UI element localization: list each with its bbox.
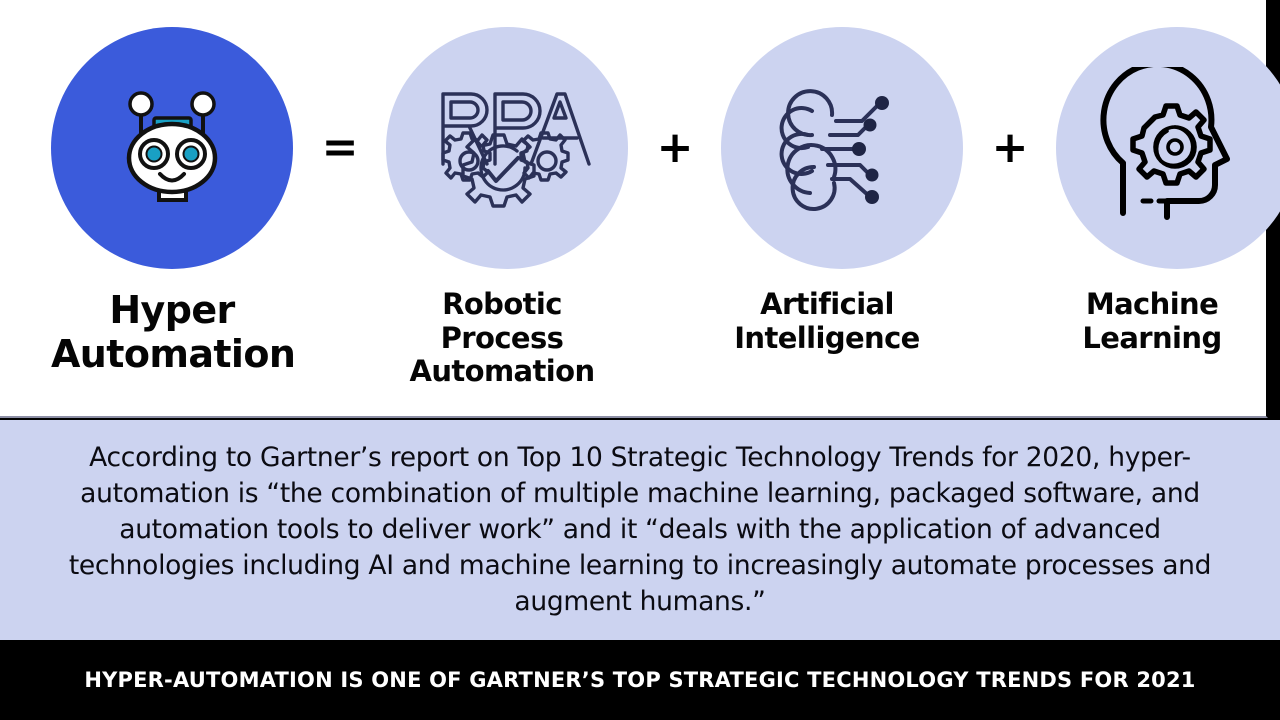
- label-robotic-process-automation: Robotic Process Automation: [386, 288, 618, 389]
- plus-icon-2: +: [963, 126, 1056, 170]
- label-machine-learning: Machine Learning: [1036, 288, 1268, 355]
- rpa-gears-icon: [421, 68, 593, 228]
- artificial-intelligence-circle: [721, 27, 963, 269]
- gartner-quote-text: According to Gartner’s report on Top 10 …: [60, 440, 1220, 620]
- label-line-1: Hyper: [51, 288, 293, 332]
- label-line-1: Robotic Process: [386, 288, 618, 355]
- bottom-banner: HYPER-AUTOMATION IS ONE OF GARTNER’S TOP…: [0, 640, 1280, 720]
- plus-icon-1: +: [628, 126, 721, 170]
- label-hyper-automation: Hyper Automation: [51, 288, 293, 376]
- quote-band: According to Gartner’s report on Top 10 …: [0, 420, 1280, 640]
- equation-row: =: [0, 20, 1268, 275]
- label-line-2: Automation: [51, 332, 293, 376]
- label-line-2: Automation: [386, 355, 618, 389]
- rpa-circle: [386, 27, 628, 269]
- banner-headline: HYPER-AUTOMATION IS ONE OF GARTNER’S TOP…: [84, 668, 1195, 692]
- label-line-1: Machine: [1036, 288, 1268, 322]
- equation-panel: =: [0, 0, 1268, 418]
- robot-icon: [97, 73, 247, 223]
- label-line-2: Intelligence: [711, 322, 943, 356]
- brain-circuit-icon: [766, 77, 918, 219]
- machine-learning-circle: [1056, 27, 1280, 269]
- label-line-2: Learning: [1036, 322, 1268, 356]
- head-gear-icon: [1097, 67, 1257, 229]
- labels-row: Hyper Automation Robotic Process Automat…: [0, 288, 1268, 389]
- equals-icon: =: [293, 126, 386, 170]
- label-line-1: Artificial: [711, 288, 943, 322]
- hyper-automation-circle: [51, 27, 293, 269]
- label-artificial-intelligence: Artificial Intelligence: [711, 288, 943, 355]
- slide-root: =: [0, 0, 1280, 720]
